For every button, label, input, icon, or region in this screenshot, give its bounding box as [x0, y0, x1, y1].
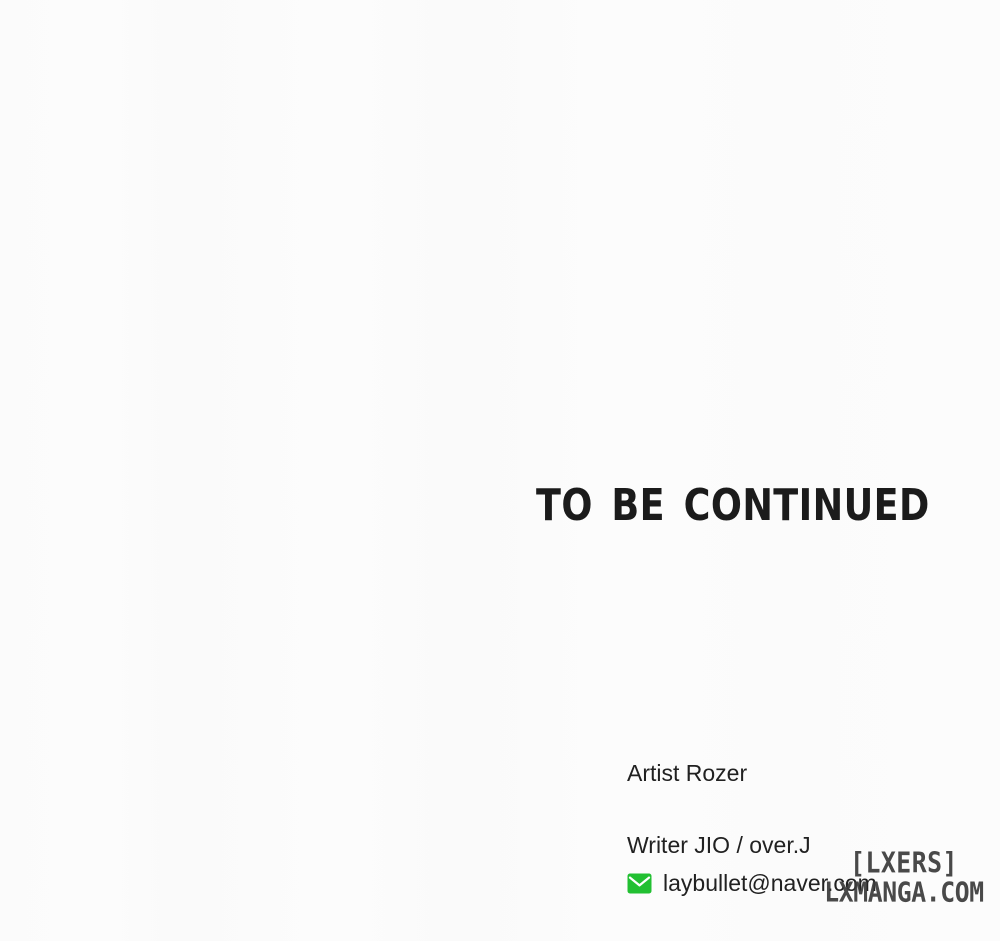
credits-block: Artist Rozer Writer JIO / over.J laybull…	[627, 758, 967, 898]
credit-email-line: laybullet@naver.com	[627, 868, 967, 898]
comic-end-card-page: To be continued Artist Rozer Writer JIO …	[0, 0, 1000, 941]
envelope-icon	[627, 873, 652, 894]
email-address-text: laybullet@naver.com	[663, 868, 877, 898]
credit-artist-line: Artist Rozer	[627, 758, 967, 788]
to-be-continued-headline: To be continued	[536, 466, 901, 532]
credit-writer-line: Writer JIO / over.J	[627, 830, 967, 860]
